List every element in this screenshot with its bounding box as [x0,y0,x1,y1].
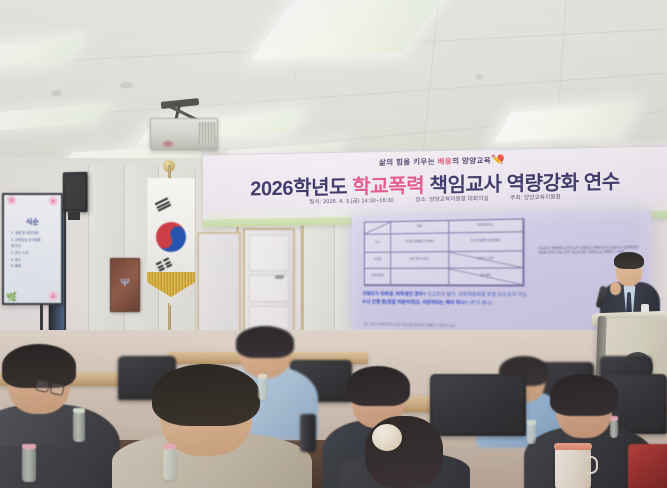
speaker-bracket [68,212,80,220]
table-col-header: 내용 [391,221,449,234]
poster-list-item: 1. 개회 및 국민의례 [11,230,57,237]
table-row-label: 심의위원회 [365,269,391,285]
red-bag[interactable] [628,444,667,488]
speaker-mesh [65,175,84,209]
table-col-header: 처리절차/비고 [449,220,523,234]
water-bottle[interactable] [163,448,176,480]
banner-slogan-pre: 삶의 힘을 키우는 [379,157,438,167]
projector-vent [199,122,215,144]
banner-place: 장소: 양양교육지원청 대회의실 [415,196,488,203]
smoke-detector [120,82,133,87]
back-wall-door[interactable] [243,228,295,337]
water-bottle[interactable] [73,412,85,442]
poster-list-item: 5. 폐회 [11,263,57,270]
banner-host: 주최: 양양교육지원청 [510,195,561,202]
program-order-poster: 🌸 🌸 🌿 🌸 식순 1. 개회 및 국민의례 2. 교육장님 인사말씀 겸 인… [2,193,63,305]
slide-question-line3: (추가 예시) [469,300,492,305]
table-header-diagonal [365,222,391,235]
attendee-hair [152,364,260,426]
trigram-gon-icon [156,257,173,271]
presenter-hand [610,282,621,295]
slide-question-rest: 신고조치 불가, 성폭력범죄를 포함 보호조치 가능 [427,291,527,297]
water-bottle[interactable] [258,378,267,400]
wall-mounted-speaker [63,172,88,213]
wooden-wall-plaque: Ψ [110,258,140,312]
attendee-hair [550,374,618,416]
presenter-hair [614,252,644,269]
poster-list-item: 겸 인사 [11,243,57,250]
hair-scrunchie [372,424,402,451]
tumbler-lid [554,443,592,450]
flower-decoration-icon: 🌸 [48,196,59,207]
thermos-tumbler[interactable] [555,448,591,488]
table-cell: 학교폭력대책 심의위원회 [449,232,523,252]
plaque-emblem-icon: Ψ [121,277,130,289]
flower-decoration-icon: 🌸 [48,291,59,302]
banner-date: 일시: 2026. 4. 3.(금) 14:30~16:30 [309,198,394,206]
poster-list-item: 2. 교육장님 인사말씀 [11,237,57,244]
back-wall-door-secondary[interactable] [197,232,241,336]
ceiling-projector [150,118,218,150]
taeguk-symbol [151,217,192,258]
conference-room-photo: 🌸 🌸 🌿 🌸 식순 1. 개회 및 국민의례 2. 교육장님 인사말씀 겸 인… [0,0,667,488]
table-row-label: 교육청 [365,253,391,269]
attendee-hair [236,326,294,358]
tumbler-handle[interactable] [587,456,598,474]
water-bottle[interactable] [610,420,618,438]
attendee-torso [0,446,90,488]
table-cell: 전담기구 심의 [449,251,523,268]
slide-question-bold: 가해자가 자퇴생, 퇴학생인 경우? [362,291,427,296]
chair[interactable] [430,374,526,436]
slide-table: 내용 처리절차/비고 학교 학교장 자체해결 요건확인 학교폭력대책 심의위원회… [364,218,525,286]
attendee-hair [346,366,410,406]
flower-decoration-icon: 🌸 [6,195,17,206]
flower-decoration-icon: 🌿 [6,292,17,303]
banner-slogan-post: 의 양양교육 [452,156,491,166]
pencil-icon: ✏️ [491,155,503,166]
ceiling [0,0,667,172]
thermos-black[interactable] [300,414,316,452]
sprinkler-head [476,74,483,78]
poster-list-item: 4. 연수 [11,257,57,264]
table-cell: 심의 개최 [449,268,523,285]
table-row-label: 학교 [365,234,391,253]
projector-lens [163,141,173,147]
table-cell: 사안 접수 및 통보 [391,252,449,269]
door-handle[interactable] [275,275,284,279]
slide-question-line2: 수사 진행 중(경찰 처분이외)도 서면처리는 해야 하나? [362,299,468,305]
poster-title: 식순 [4,217,61,227]
poster-list-item: 3. 연수 소개 [11,250,57,257]
slide-highlight-text: 가해자가 자퇴생, 퇴학생인 경우? 신고조치 불가, 성폭력범죄를 포함 보호… [362,290,615,309]
water-bottle[interactable] [527,424,536,444]
table-cell: 학교장 자체해결 요건확인 [391,233,449,252]
trigram-geon-icon [155,197,172,211]
table-cell [391,269,449,286]
poster-item-list: 1. 개회 및 국민의례 2. 교육장님 인사말씀 겸 인사 3. 연수 소개 … [11,230,57,270]
banner-slogan-highlight: 배움 [437,157,452,166]
smoke-detector [52,90,61,95]
water-bottle[interactable] [22,448,36,482]
